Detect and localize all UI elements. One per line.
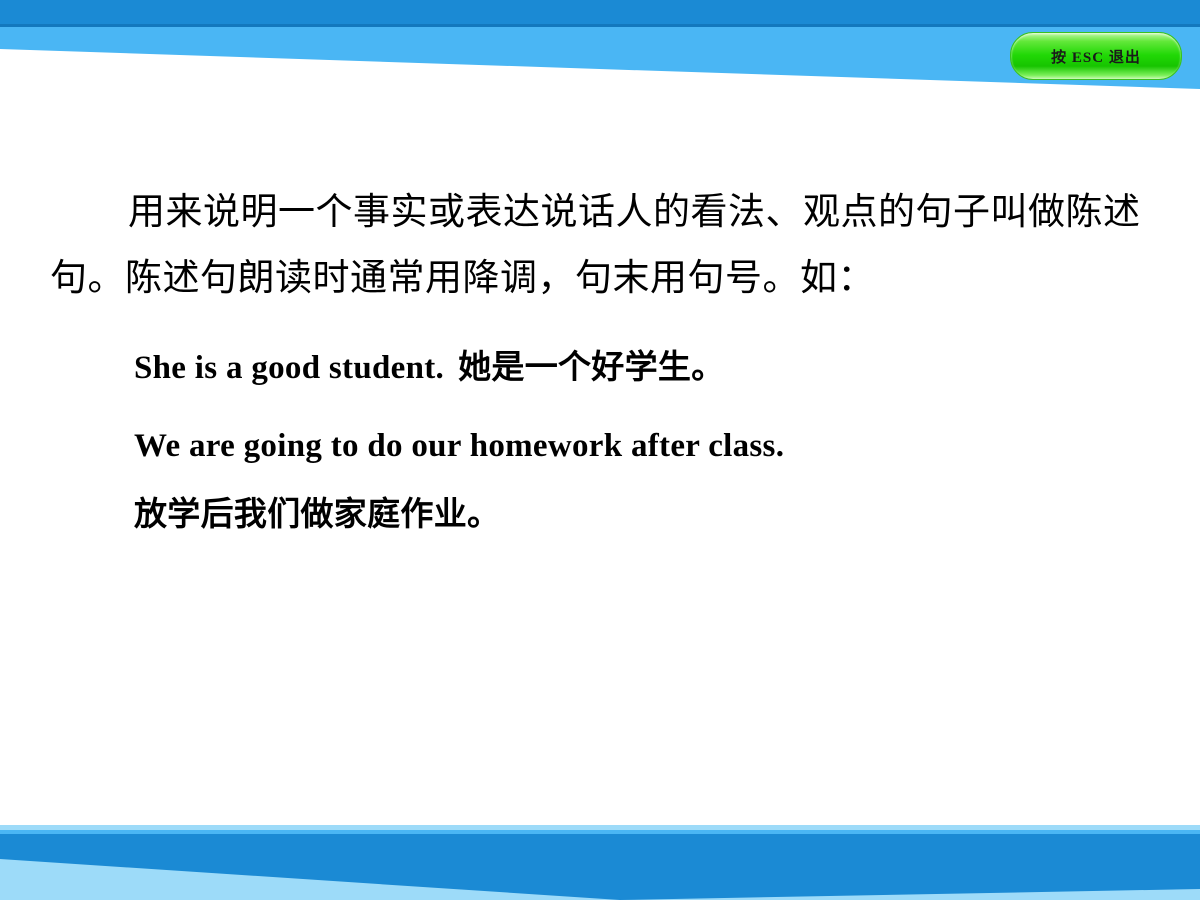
example-1-chinese: 她是一个好学生。 <box>458 350 724 386</box>
top-divider-line <box>0 24 1200 27</box>
esc-exit-button[interactable]: 按 ESC 退出 <box>1010 32 1182 80</box>
bottom-decoration-banner <box>0 825 1200 900</box>
bottom-blue-wedge <box>0 833 1200 900</box>
slide-content: 用来说明一个事实或表达说话人的看法、观点的句子叫做陈述句。陈述句朗读时通常用降调… <box>0 180 1200 535</box>
bottom-pale-blue-band <box>0 825 1200 900</box>
definition-paragraph: 用来说明一个事实或表达说话人的看法、观点的句子叫做陈述句。陈述句朗读时通常用降调… <box>0 180 1200 312</box>
top-dark-blue-band <box>0 0 1200 24</box>
example-2-english: We are going to do our homework after cl… <box>0 428 1200 465</box>
example-1-english: She is a good student. <box>134 350 444 386</box>
example-2-chinese: 放学后我们做家庭作业。 <box>0 487 1200 535</box>
example-line-1: She is a good student.她是一个好学生。 <box>0 340 1200 388</box>
esc-exit-button-label: 按 ESC 退出 <box>1051 46 1141 67</box>
slide-canvas: 按 ESC 退出 用来说明一个事实或表达说话人的看法、观点的句子叫做陈述句。陈述… <box>0 0 1200 900</box>
bottom-divider-line <box>0 830 1200 834</box>
